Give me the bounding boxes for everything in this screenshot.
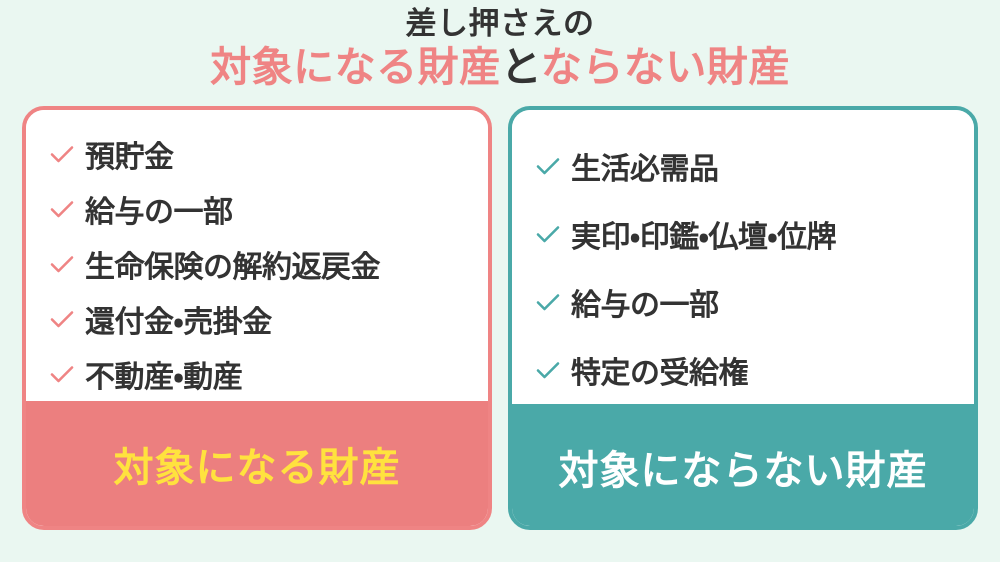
check-icon xyxy=(534,356,562,384)
list-item: 預貯金 xyxy=(26,126,488,181)
page-title: 差し押さえの 対象になる財産とならない財産 xyxy=(0,0,1000,93)
list-item: 給与の一部 xyxy=(26,181,488,236)
list-item: 実印・印鑑・仏壇・位牌 xyxy=(512,200,974,268)
title-accent-right: ならない財産 xyxy=(541,44,790,90)
check-icon xyxy=(48,140,76,168)
list-item-label: 生命保険の解約返戻金 xyxy=(85,242,380,286)
title-line-1: 差し押さえの xyxy=(0,7,1000,42)
card-exempt-assets: 生活必需品 実印・印鑑・仏壇・位牌 xyxy=(508,106,978,530)
check-icon xyxy=(48,360,76,388)
list-item-label: 預貯金 xyxy=(85,132,174,176)
list-item: 特定の受給権 xyxy=(512,336,974,404)
list-item-label: 特定の受給権 xyxy=(571,348,748,392)
list-item-label: 生活必需品 xyxy=(571,144,719,188)
check-icon xyxy=(534,152,562,180)
check-icon xyxy=(48,250,76,278)
card-exempt-footer: 対象にならない財産 xyxy=(512,404,974,529)
card-exempt-list: 生活必需品 実印・印鑑・仏壇・位牌 xyxy=(512,110,974,404)
list-item: 不動産・動産 xyxy=(26,346,488,401)
list-item-label: 給与の一部 xyxy=(85,187,233,231)
title-accent-left: 対象になる財産 xyxy=(210,44,501,90)
cards-container: 預貯金 給与の一部 生命保険の解 xyxy=(0,106,1000,530)
check-icon xyxy=(534,220,562,248)
card-seizable-list: 預貯金 給与の一部 生命保険の解 xyxy=(26,110,488,401)
card-seizable-footer: 対象になる財産 xyxy=(26,401,488,526)
title-conjunction: と xyxy=(501,44,541,90)
list-item-label: 実印・印鑑・仏壇・位牌 xyxy=(571,212,836,256)
infographic-root: 差し押さえの 対象になる財産とならない財産 預貯金 xyxy=(0,0,1000,562)
check-icon xyxy=(48,305,76,333)
list-item-label: 給与の一部 xyxy=(571,280,719,324)
list-item: 生命保険の解約返戻金 xyxy=(26,236,488,291)
check-icon xyxy=(534,288,562,316)
list-item: 給与の一部 xyxy=(512,268,974,336)
card-seizable-assets: 預貯金 給与の一部 生命保険の解 xyxy=(22,106,492,530)
check-icon xyxy=(48,195,76,223)
list-item-label: 不動産・動産 xyxy=(85,352,242,396)
list-item-label: 還付金・売掛金 xyxy=(85,297,272,341)
list-item: 生活必需品 xyxy=(512,132,974,200)
list-item: 還付金・売掛金 xyxy=(26,291,488,346)
title-line-2: 対象になる財産とならない財産 xyxy=(0,42,1000,93)
